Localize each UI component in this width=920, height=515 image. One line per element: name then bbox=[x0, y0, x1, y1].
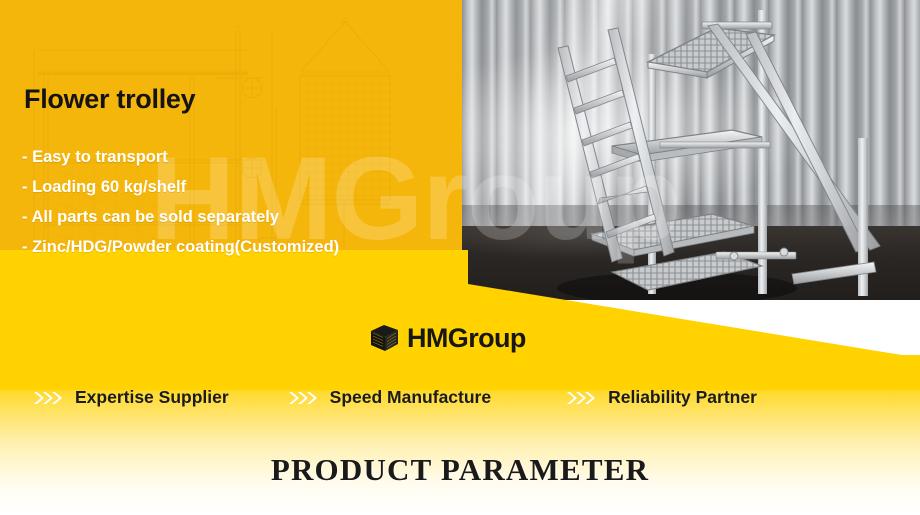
list-item: - All parts can be sold separately bbox=[22, 202, 452, 232]
feature-item-reliability-partner: Reliability Partner bbox=[567, 387, 757, 408]
diagonal-yellow-wedge bbox=[0, 250, 920, 390]
list-item: - Loading 60 kg/shelf bbox=[22, 172, 452, 202]
list-item: - Zinc/HDG/Powder coating(Customized) bbox=[22, 232, 452, 262]
feature-label: Expertise Supplier bbox=[75, 387, 229, 408]
cube-box-icon bbox=[368, 322, 400, 354]
list-item: - Easy to transport bbox=[22, 142, 452, 172]
page-title: Flower trolley bbox=[24, 84, 195, 115]
triple-chevron-right-icon bbox=[289, 390, 321, 406]
triple-chevron-right-icon bbox=[567, 390, 599, 406]
feature-label: Speed Manufacture bbox=[330, 387, 491, 408]
feature-item-speed-manufacture: Speed Manufacture bbox=[289, 387, 491, 408]
triple-chevron-right-icon bbox=[34, 390, 66, 406]
brand-logo-text: HMGroup bbox=[407, 323, 526, 354]
feature-bullet-list: - Easy to transport - Loading 60 kg/shel… bbox=[22, 142, 452, 262]
feature-label: Reliability Partner bbox=[608, 387, 757, 408]
section-title: PRODUCT PARAMETER bbox=[0, 452, 920, 488]
feature-item-expertise-supplier: Expertise Supplier bbox=[34, 387, 229, 408]
feature-row: Expertise Supplier Speed Manufacture bbox=[0, 387, 920, 408]
brand-logo: HMGroup bbox=[368, 322, 526, 354]
product-banner: HMGroup Flower trolley - Easy to transpo… bbox=[0, 0, 920, 515]
